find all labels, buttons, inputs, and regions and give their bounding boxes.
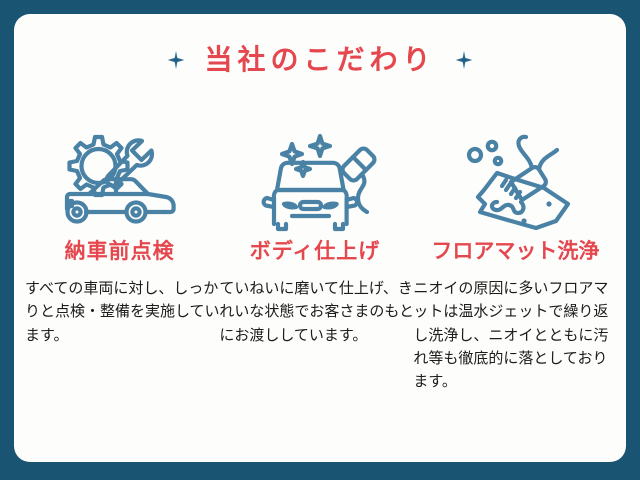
promo-banner: 当社のこだわり [0, 0, 640, 480]
car-wash-sparkle-icon [240, 124, 390, 234]
sparkle-star-icon [454, 50, 474, 70]
feature-column-body-finish: ボディ仕上げ ていねいに磨いて仕上げ、きれいな状態でお客さまのもとにお渡ししてい… [217, 124, 412, 347]
floor-mat-brush-icon [440, 124, 590, 234]
feature-heading: 納車前点検 [65, 240, 175, 263]
car-gear-wrench-icon [45, 124, 195, 234]
feature-body: すべての車両に対し、しっかりと点検・整備を実施しています。 [15, 277, 224, 347]
feature-body: ていねいに磨いて仕上げ、きれいな状態でお客さまのもとにお渡ししています。 [215, 277, 414, 347]
feature-body: ニオイの原因に多いフロアマットは温水ジェットで繰り返し洗浄し、ニオイとともに汚れ… [413, 277, 617, 393]
page-title: 当社のこだわり [204, 46, 435, 74]
banner-panel: 当社のこだわり [14, 14, 626, 462]
feature-heading: ボディ仕上げ [250, 240, 381, 263]
sparkle-star-icon [166, 50, 186, 70]
feature-column-inspection: 納車前点検 すべての車両に対し、しっかりと点検・整備を実施しています。 [22, 124, 217, 347]
feature-column-floor-mat: フロアマット洗浄 ニオイの原因に多いフロアマットは温水ジェットで繰り返し洗浄し、… [413, 124, 618, 393]
feature-columns: 納車前点検 すべての車両に対し、しっかりと点検・整備を実施しています。 [14, 124, 626, 393]
banner-title-row: 当社のこだわり [14, 46, 626, 74]
feature-heading: フロアマット洗浄 [431, 240, 599, 263]
